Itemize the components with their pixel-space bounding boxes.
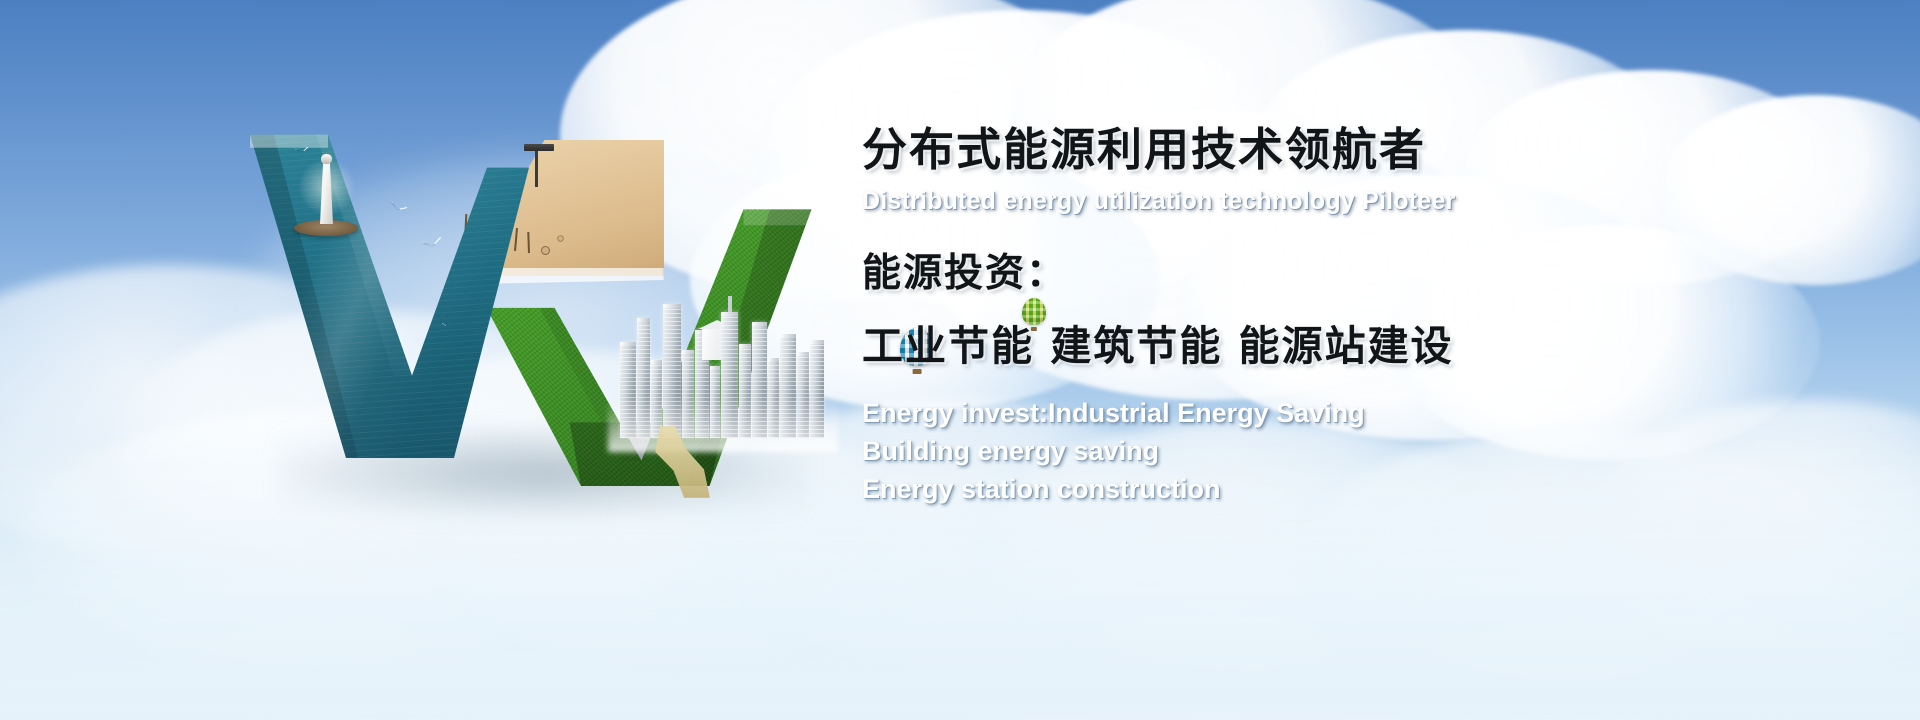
seagull-icon bbox=[388, 201, 407, 215]
w-letter-artwork bbox=[238, 128, 838, 488]
services-english-line-3: Energy station construction bbox=[862, 470, 1872, 508]
tower-antenna bbox=[728, 296, 732, 312]
hero-banner: 分布式能源利用技术领航者 Distributed energy utilizat… bbox=[0, 0, 1920, 720]
signpost-pole bbox=[535, 147, 538, 187]
services-english-list: Energy invest:Industrial Energy Saving B… bbox=[862, 394, 1872, 508]
services-english-line-1: Energy invest:Industrial Energy Saving bbox=[862, 394, 1872, 432]
signpost-board bbox=[524, 144, 554, 151]
city-base-mist bbox=[608, 396, 838, 452]
subheadline-english: Distributed energy utilization technolog… bbox=[862, 187, 1872, 216]
lead-label-chinese: 能源投资： bbox=[862, 242, 1872, 298]
lighthouse-lamp-icon bbox=[321, 153, 332, 164]
tumbleweed-icon bbox=[557, 235, 563, 241]
seagull-icon bbox=[421, 237, 443, 251]
headline-chinese: 分布式能源利用技术领航者 bbox=[862, 126, 1872, 174]
banner-copy-block: 分布式能源利用技术领航者 Distributed energy utilizat… bbox=[862, 126, 1872, 508]
services-chinese: 工业节能 建筑节能 能源站建设 bbox=[862, 312, 1872, 372]
services-english-line-2: Building energy saving bbox=[862, 432, 1872, 470]
tumbleweed-icon bbox=[541, 246, 550, 255]
